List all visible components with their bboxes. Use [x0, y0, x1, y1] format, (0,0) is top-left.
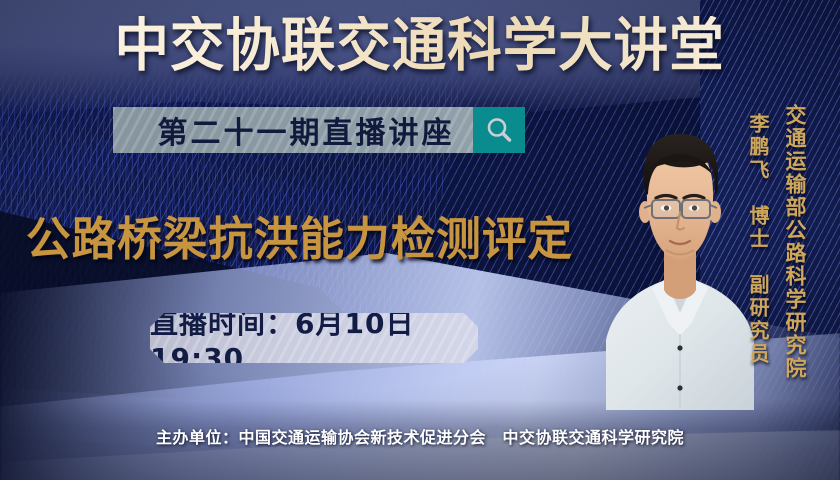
- page-title: 中交协联交通科学大讲堂: [0, 16, 840, 74]
- speaker-portrait: [604, 108, 756, 410]
- speaker-name-title: 李鹏飞 博士 副研究员: [744, 113, 773, 366]
- search-button[interactable]: [473, 107, 525, 153]
- speaker-organization: 交通运输部公路科学研究院: [780, 104, 810, 380]
- live-lecture-poster: 交通运输部公路科学研究院 李鹏飞 博士 副研究员 中交协联交通科学大讲堂 第二十…: [0, 0, 840, 480]
- organizer-text: 主办单位：中国交通运输协会新技术促进分会 中交协联交通科学研究院: [156, 428, 684, 447]
- search-icon: [484, 115, 514, 145]
- broadcast-time-chip: 直播时间：6月10日19:30: [150, 313, 478, 363]
- organizer-footer: 主办单位：中国交通运输协会新技术促进分会 中交协联交通科学研究院: [0, 424, 840, 448]
- episode-label: 第二十一期直播讲座: [132, 108, 455, 152]
- episode-plate: 第二十一期直播讲座: [113, 107, 473, 153]
- page-title-text: 中交协联交通科学大讲堂: [115, 16, 725, 74]
- episode-banner: 第二十一期直播讲座: [113, 107, 525, 153]
- lecture-topic-title: 公路桥梁抗洪能力检测评定: [26, 203, 573, 269]
